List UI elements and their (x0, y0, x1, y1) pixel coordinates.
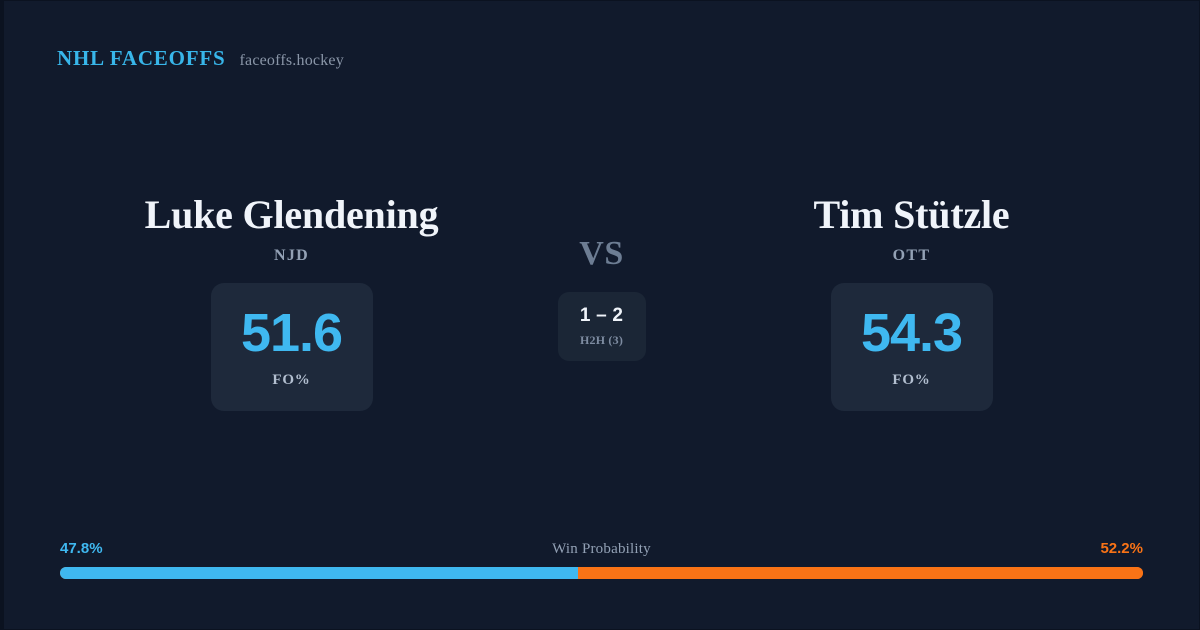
player-away: Tim Stützle OTT 54.3 FO% (692, 191, 1132, 411)
player-home-name: Luke Glendening (145, 191, 439, 238)
matchup-section: Luke Glendening NJD 51.6 FO% VS 1 – 2 H2… (4, 191, 1199, 411)
win-probability-section: 47.8% Win Probability 52.2% (60, 540, 1143, 579)
player-home-faceoff-label: FO% (272, 372, 310, 389)
header: NHL FACEOFFS faceoffs.hockey (57, 46, 344, 71)
win-probability-bar-home (60, 567, 578, 579)
site-url: faceoffs.hockey (239, 52, 343, 70)
win-probability-right-value: 52.2% (1100, 540, 1143, 557)
share-card: NHL FACEOFFS faceoffs.hockey Luke Glende… (0, 0, 1200, 630)
player-home-stat-card: 51.6 FO% (211, 283, 373, 411)
win-probability-bar-away (578, 567, 1143, 579)
player-home: Luke Glendening NJD 51.6 FO% (72, 191, 512, 411)
win-probability-title: Win Probability (552, 541, 651, 558)
player-away-faceoff-value: 54.3 (861, 306, 962, 360)
player-away-faceoff-label: FO% (892, 372, 930, 389)
player-away-stat-card: 54.3 FO% (831, 283, 993, 411)
matchup-center: VS 1 – 2 H2H (3) (512, 191, 692, 361)
player-home-team: NJD (274, 247, 309, 265)
win-probability-bar (60, 567, 1143, 579)
win-probability-left-value: 47.8% (60, 540, 103, 557)
h2h-score: 1 – 2 (580, 306, 623, 325)
brand-title: NHL FACEOFFS (57, 46, 225, 71)
h2h-box: 1 – 2 H2H (3) (558, 292, 646, 361)
player-home-faceoff-value: 51.6 (241, 306, 342, 360)
player-away-team: OTT (893, 247, 931, 265)
vs-label: VS (579, 237, 623, 271)
win-probability-labels: 47.8% Win Probability 52.2% (60, 540, 1143, 558)
player-away-name: Tim Stützle (814, 191, 1010, 238)
h2h-label: H2H (3) (580, 333, 623, 348)
